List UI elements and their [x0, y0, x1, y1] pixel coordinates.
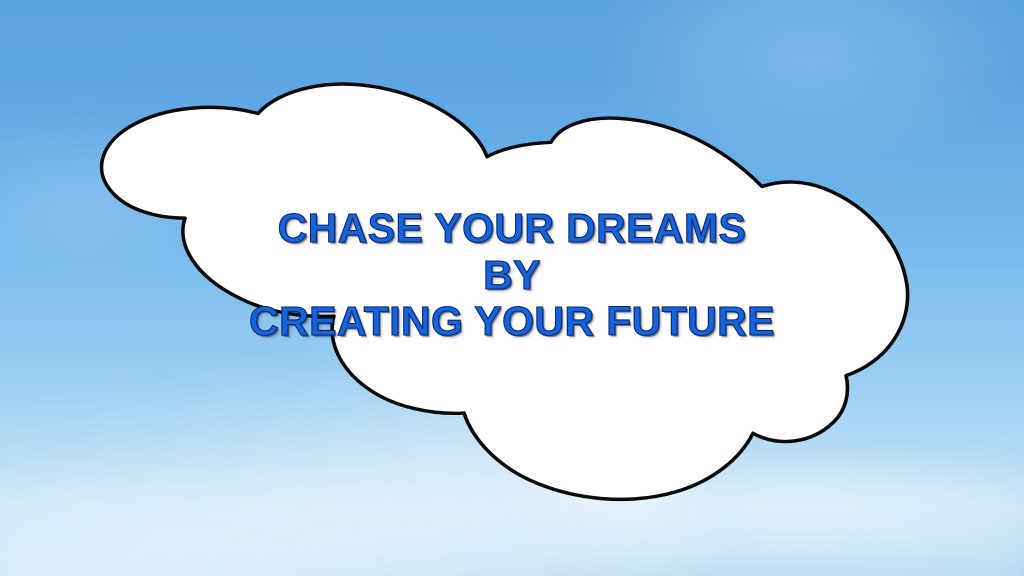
message-line-1: CHASE YOUR DREAMS	[0, 208, 1024, 255]
message-line-2: BY	[0, 255, 1024, 301]
message-line-3: CREATING YOUR FUTURE	[0, 301, 1024, 348]
poster-canvas: CHASE YOUR DREAMS BY CREATING YOUR FUTUR…	[0, 0, 1024, 576]
cloud-message: CHASE YOUR DREAMS BY CREATING YOUR FUTUR…	[0, 208, 1024, 348]
